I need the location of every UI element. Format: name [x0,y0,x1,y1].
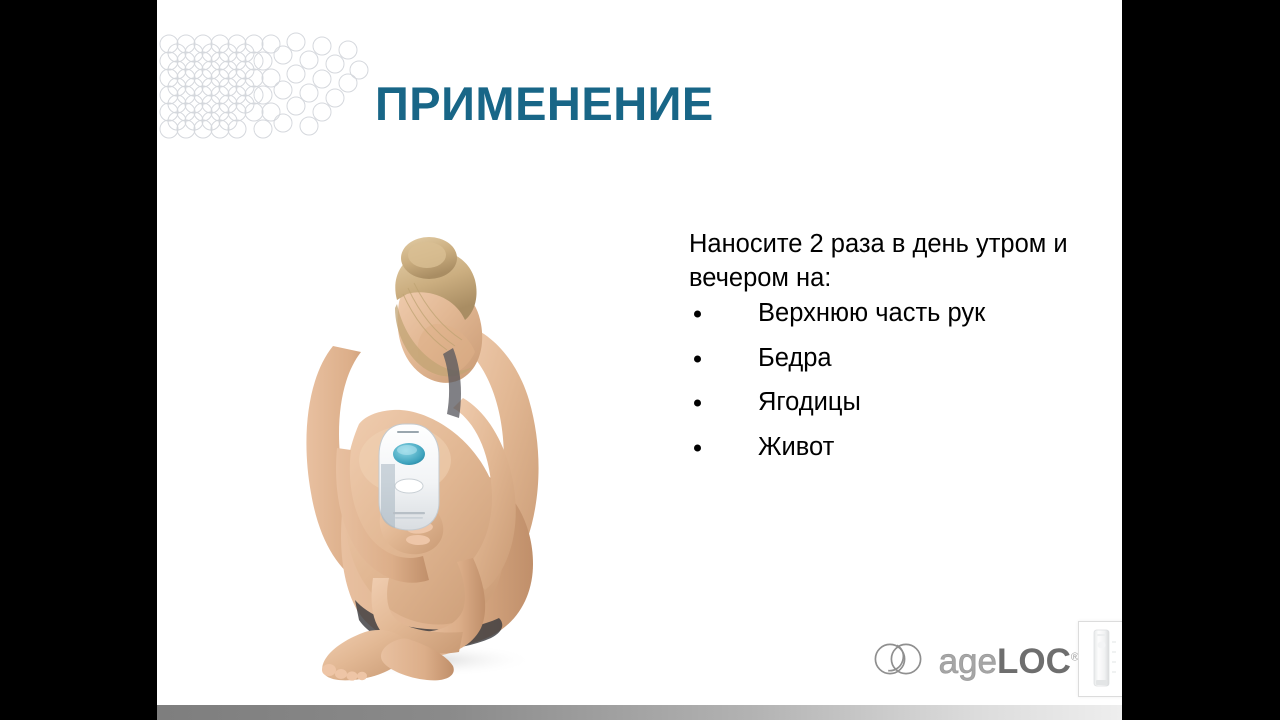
product-tube-thumbnail [1078,621,1122,697]
letterbox-bar-left [0,0,157,720]
bullet-dot-icon [694,400,701,407]
presentation-slide: ПРИМЕНЕНИЕ [157,0,1122,705]
logo-word-loc: LOC [997,642,1071,681]
intro-text: Наносите 2 раза в день утром и вечером н… [689,228,1089,295]
slide-body-copy: Наносите 2 раза в день утром и вечером н… [689,228,1089,479]
ageloc-logo: ageLOC® [873,640,1079,683]
list-item: Живот [689,435,1089,461]
video-progress-bar[interactable] [157,705,1122,720]
letterbox-bar-right [1122,0,1280,720]
list-item: Верхнюю часть рук [689,301,1089,327]
list-item: Бедра [689,346,1089,372]
list-item-label: Ягодицы [758,388,861,416]
circles-pattern-decoration [159,30,369,145]
woman-using-body-spa-photo [277,228,567,690]
logo-word-age: age [939,642,997,681]
list-item-label: Верхнюю часть рук [758,299,985,327]
application-areas-list: Верхнюю часть рук Бедра Ягодицы Живот [689,301,1089,460]
bullet-dot-icon [694,311,701,318]
galvanic-body-spa-device [379,424,439,530]
list-item: Ягодицы [689,390,1089,416]
video-viewport: ПРИМЕНЕНИЕ [0,0,1280,720]
list-item-label: Бедра [758,344,832,372]
bullet-dot-icon [694,355,701,362]
bullet-dot-icon [694,444,701,451]
list-item-label: Живот [758,433,834,461]
page-title: ПРИМЕНЕНИЕ [375,79,714,128]
ageloc-wordmark: ageLOC® [939,644,1079,679]
ageloc-interlocking-circles-icon [873,640,925,683]
